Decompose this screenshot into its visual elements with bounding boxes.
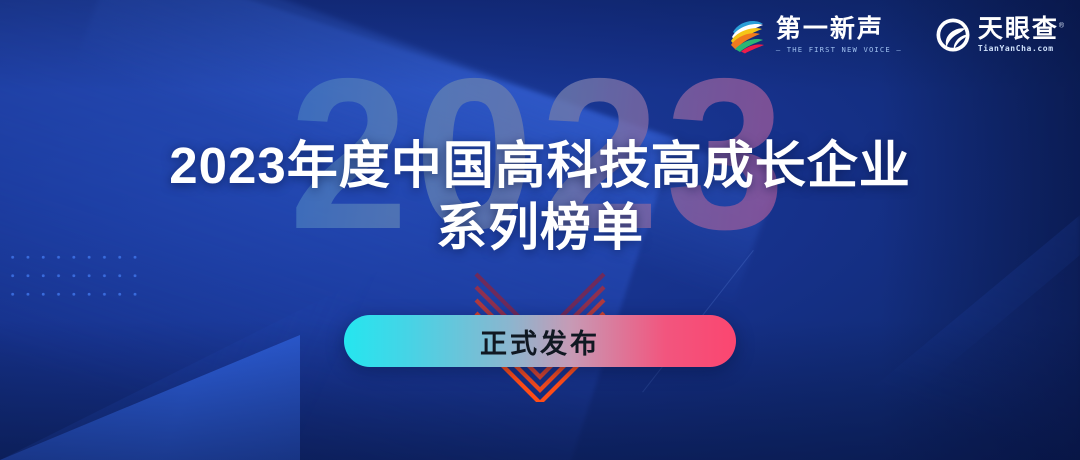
- right-wedge-dark: [830, 255, 1080, 460]
- tianyancha-cn-inner: 天眼查: [978, 15, 1059, 43]
- headline-line-2: 系列榜单: [0, 198, 1080, 258]
- bottom-left-triangle: [0, 335, 300, 460]
- logo-diyixinsheng[interactable]: 第一新声 — THE FIRST NEW VOICE —: [729, 16, 902, 54]
- registered-trademark-icon: ®: [1059, 23, 1066, 30]
- diyixinsheng-tagline: — THE FIRST NEW VOICE —: [776, 46, 902, 53]
- tianyancha-cn-label: 天眼查®: [978, 17, 1066, 42]
- tianyancha-mark-icon: [935, 17, 971, 53]
- logo-bar: 第一新声 — THE FIRST NEW VOICE — 天眼查® TianYa…: [729, 16, 1066, 54]
- diyixinsheng-cn-label: 第一新声: [776, 17, 902, 42]
- logo-divider: [918, 22, 919, 48]
- tianyancha-tagline: TianYanCha.com: [978, 45, 1066, 53]
- release-cta-button[interactable]: 正式发布: [344, 315, 736, 367]
- headline: 2023年度中国高科技高成长企业 系列榜单: [0, 136, 1080, 258]
- promo-banner: 2023 2023年度中国高科技高成长企业 系列榜单 正式发布: [0, 0, 1080, 460]
- tianyancha-text: 天眼查® TianYanCha.com: [978, 17, 1066, 53]
- headline-line-1: 2023年度中国高科技高成长企业: [169, 137, 910, 194]
- logo-tianyancha[interactable]: 天眼查® TianYanCha.com: [935, 17, 1066, 53]
- diyixinsheng-text: 第一新声 — THE FIRST NEW VOICE —: [776, 17, 902, 53]
- diyixinsheng-mark-icon: [729, 16, 769, 54]
- release-cta-label: 正式发布: [480, 322, 600, 361]
